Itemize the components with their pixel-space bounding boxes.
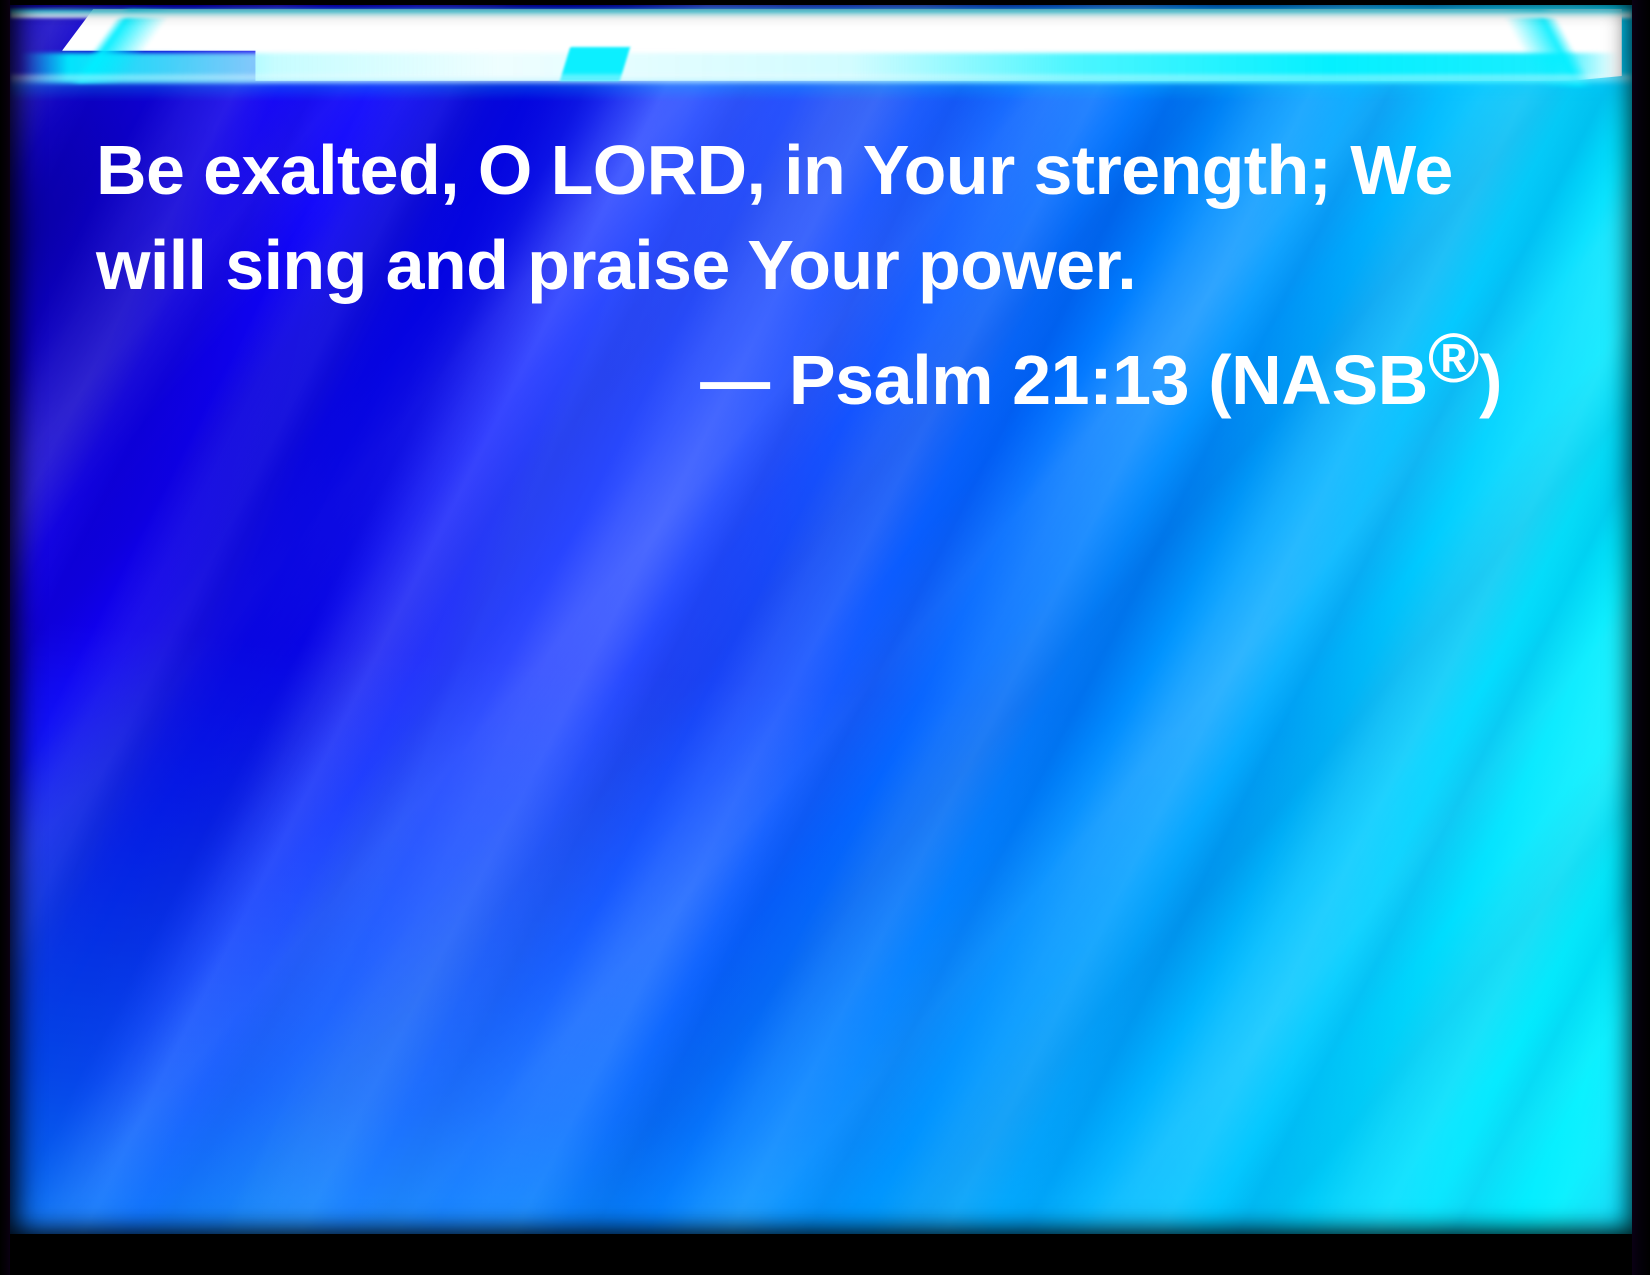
- attribution-open-paren: (: [1189, 341, 1231, 419]
- frame-right-border: [1632, 0, 1650, 1275]
- frame-bottom-border: [0, 1234, 1650, 1275]
- slide-artwork-canvas: Be exalted, O LORD, in Your strength; We…: [10, 5, 1632, 1234]
- verse-line-1: Be exalted, O LORD, in Your strength; We: [96, 123, 1516, 218]
- verse-text-block: Be exalted, O LORD, in Your strength; We…: [96, 123, 1516, 428]
- attribution-close-paren: ): [1479, 341, 1502, 419]
- attribution-dash: —: [700, 341, 770, 419]
- frame-left-border: [0, 0, 10, 1275]
- verse-attribution: — Psalm 21:13 (NASB®): [96, 311, 1516, 428]
- verse-slide: Be exalted, O LORD, in Your strength; We…: [0, 0, 1650, 1275]
- attribution-translation: NASB: [1231, 341, 1428, 419]
- attribution-reference: Psalm 21:13: [789, 341, 1189, 419]
- attribution-spacer: [770, 341, 789, 419]
- verse-line-2: will sing and praise Your power.: [96, 218, 1516, 313]
- frame-top-border: [0, 0, 1650, 5]
- registered-trademark-icon: ®: [1428, 319, 1479, 397]
